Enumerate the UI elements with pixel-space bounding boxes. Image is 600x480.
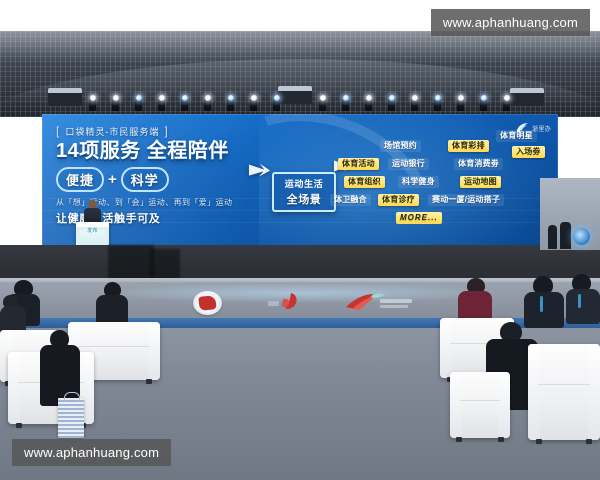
stage-lamp [203, 92, 212, 112]
audience-person [566, 274, 600, 324]
stage-lamp [157, 92, 166, 112]
watermark-top: www.aphanhuang.com [431, 9, 590, 36]
stage-lamp [502, 92, 511, 112]
scene-card: 运动生活 全场景 [272, 172, 336, 212]
podium-label: 发布 [76, 227, 109, 234]
lighting-truss [48, 92, 548, 114]
service-tag: 入场劵 [512, 146, 545, 158]
stage-lamp [272, 92, 281, 112]
stage-lamp [364, 92, 373, 112]
service-tag-cloud: 场馆预约体育活动运动银行体育彩排体育明星入场劵体育消费劵体育组织科学健身运动地图… [330, 124, 552, 236]
stage-lamp [180, 92, 189, 112]
bracket-open: [ [56, 124, 60, 138]
service-tag: 体育彩排 [448, 140, 489, 152]
audience-person [96, 282, 128, 326]
pill-convenient: 便捷 [56, 167, 104, 192]
standing-person [548, 225, 557, 249]
light-cluster-center [278, 86, 312, 104]
stage-lamp [249, 92, 258, 112]
service-tag: 科学健身 [398, 176, 439, 188]
stage-lamp [134, 92, 143, 112]
product-label: 口袋精灵-市民服务端 [65, 125, 159, 138]
watermark-bottom: www.aphanhuang.com [12, 439, 171, 466]
circular-emblem-logo [193, 291, 222, 315]
service-tag: 运动银行 [388, 158, 429, 170]
stage-lamp [387, 92, 396, 112]
plus-icon: + [108, 172, 117, 187]
audience-person [524, 276, 564, 328]
red-runner-logo [265, 291, 315, 313]
service-tag: 赛动一厦/运动搭子 [428, 194, 504, 206]
tote-bag [58, 398, 84, 438]
blue-accent-lamp [573, 228, 590, 245]
lanyard [578, 294, 581, 308]
stage-lamp [226, 92, 235, 112]
service-tag: 体育组织 [344, 176, 385, 188]
led-video-wall: 浙里办 [ 口袋精灵-市民服务端 ] 14项服务 全程陪伴 便捷 + 科学 从「… [42, 114, 558, 246]
scene-card-line2: 全场景 [287, 191, 322, 207]
service-tag: 体育活动 [338, 158, 379, 170]
pill-scientific: 科学 [121, 167, 169, 192]
lanyard [540, 296, 543, 312]
led-main-headline: 14项服务 全程陪伴 [56, 141, 306, 162]
stage-lamp [341, 92, 350, 112]
scene-card-line1: 运动生活 [285, 177, 323, 190]
service-tag: 体卫融合 [330, 194, 371, 206]
stage-lamp [433, 92, 442, 112]
service-tag: 运动地图 [460, 176, 501, 188]
service-tag: 体育明星 [496, 130, 537, 142]
bracket-close: ] [164, 124, 168, 138]
standing-person [560, 222, 571, 249]
stage-lamp [318, 92, 327, 112]
stage-lamp [479, 92, 488, 112]
stage-lamp [88, 92, 97, 112]
conference-stage-photo: 浙里办 [ 口袋精灵-市民服务端 ] 14项服务 全程陪伴 便捷 + 科学 从「… [0, 0, 600, 480]
service-tag: 体育消费劵 [454, 158, 503, 170]
light-cluster-left [48, 88, 82, 106]
service-tag: MORE... [396, 212, 442, 224]
light-cluster-right [510, 88, 544, 106]
audience-chair [450, 372, 510, 438]
audience-chair [528, 344, 600, 440]
service-tag: 体育诊疗 [378, 194, 419, 206]
service-tag: 场馆预约 [380, 140, 421, 152]
arrow-right-icon [247, 162, 273, 184]
stage-lamp [410, 92, 419, 112]
stage-lamp [456, 92, 465, 112]
stage-lamp [111, 92, 120, 112]
bracket-label-row: [ 口袋精灵-市民服务端 ] [56, 124, 306, 138]
marathon-expo-logo [344, 291, 416, 313]
